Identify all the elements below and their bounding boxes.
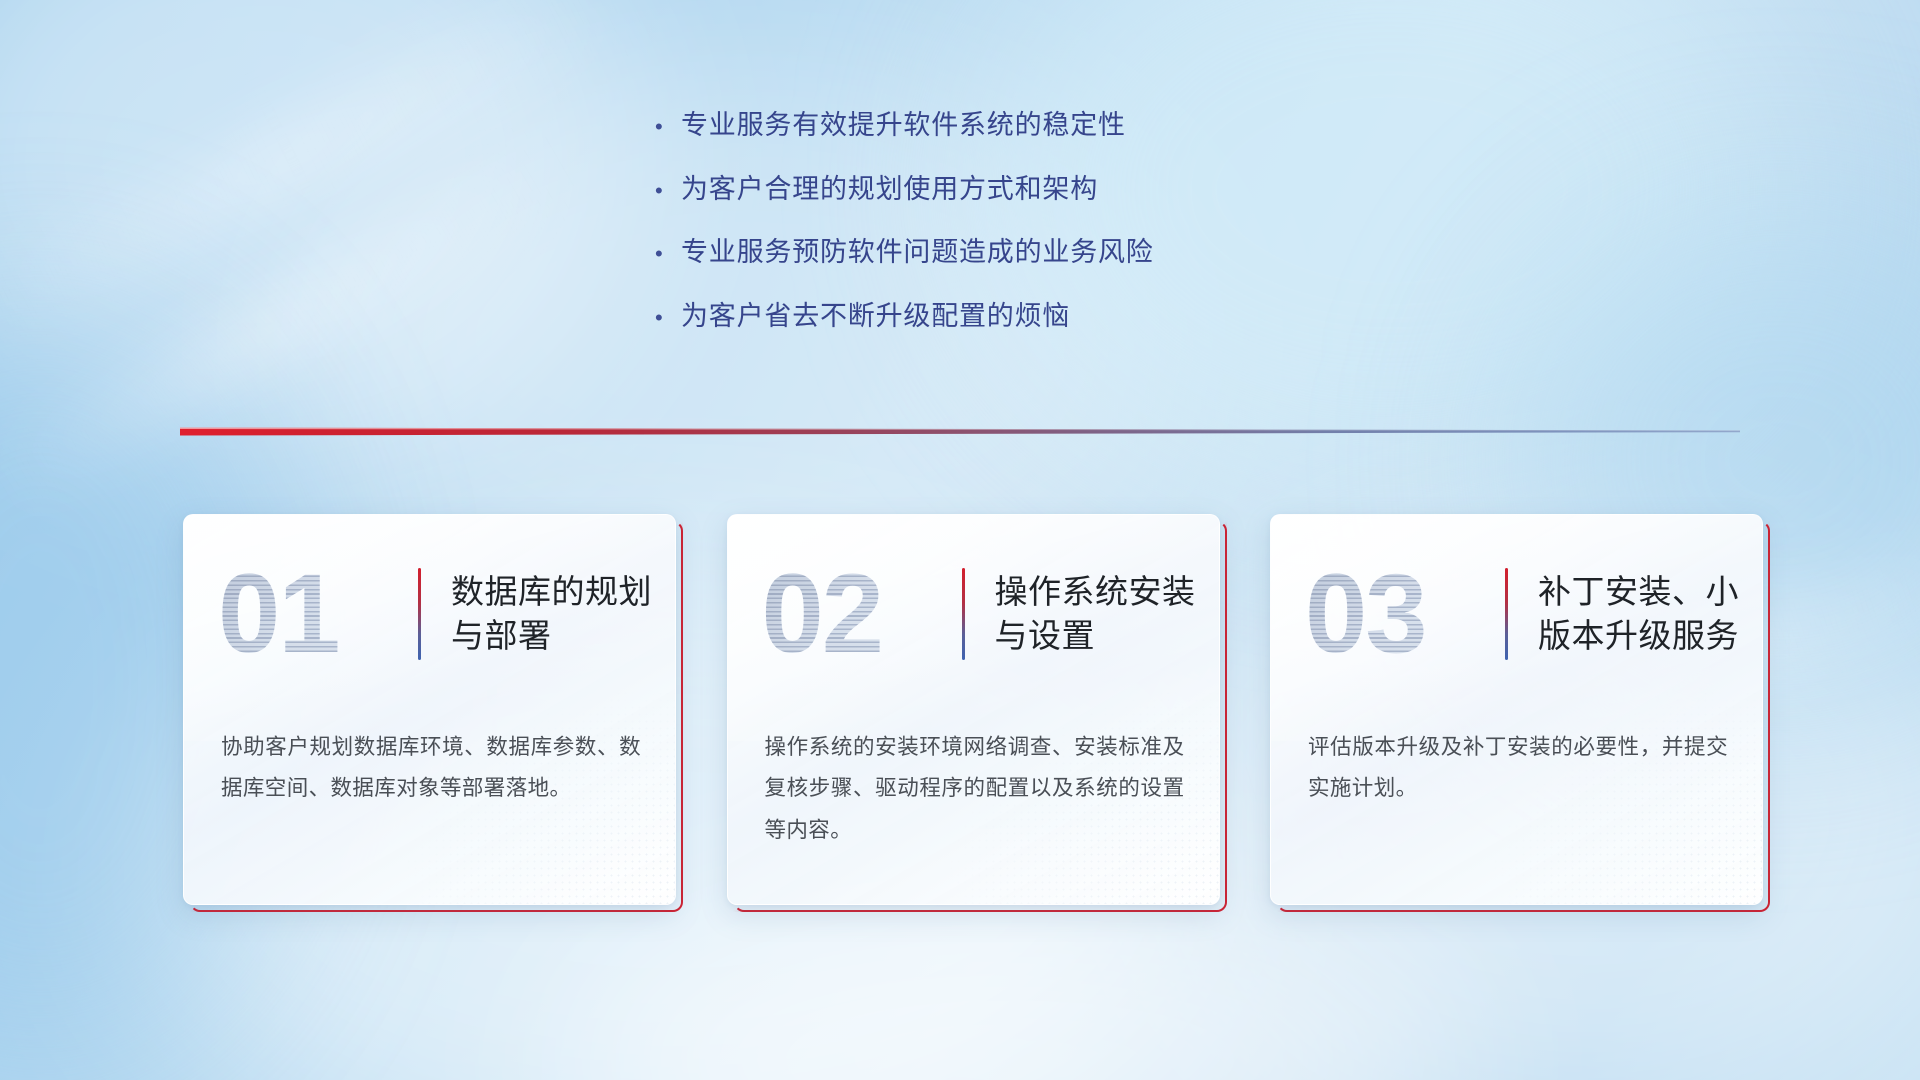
card-number: 03	[1305, 558, 1505, 670]
card-title-accent-bar	[1505, 568, 1508, 660]
card-title: 操作系统安装 与设置	[995, 570, 1196, 657]
service-card[interactable]: 03 补丁安装、小 版本升级服务 评估版本升级及补丁安装的必要性，并提交实施计划…	[1270, 514, 1763, 905]
service-card-row: 01 数据库的规划 与部署 协助客户规划数据库环境、数据库参数、数据库空间、数据…	[183, 514, 1763, 905]
bullet-label: 为客户合理的规划使用方式和架构	[681, 172, 1098, 207]
card-surface: 02 操作系统安装 与设置 操作系统的安装环境网络调查、安装标准及复核步骤、驱动…	[727, 514, 1220, 905]
card-number: 02	[762, 558, 962, 670]
list-item: • 为客户合理的规划使用方式和架构	[655, 172, 1415, 207]
card-surface: 03 补丁安装、小 版本升级服务 评估版本升级及补丁安装的必要性，并提交实施计划…	[1270, 514, 1763, 905]
card-header: 02 操作系统安装 与设置	[728, 539, 1219, 689]
card-title-accent-bar	[962, 568, 965, 660]
bullet-label: 专业服务预防软件问题造成的业务风险	[681, 235, 1154, 270]
card-description: 操作系统的安装环境网络调查、安装标准及复核步骤、驱动程序的配置以及系统的设置等内…	[765, 727, 1185, 851]
card-header: 03 补丁安装、小 版本升级服务	[1271, 539, 1762, 689]
bullet-dot-icon: •	[655, 307, 681, 329]
bullet-dot-icon: •	[655, 180, 681, 202]
service-card[interactable]: 01 数据库的规划 与部署 协助客户规划数据库环境、数据库参数、数据库空间、数据…	[183, 514, 676, 905]
benefits-bullet-list: • 专业服务有效提升软件系统的稳定性 • 为客户合理的规划使用方式和架构 • 专…	[655, 108, 1415, 362]
divider-wedge-icon	[180, 418, 1740, 440]
background-glow-8	[560, 880, 1460, 1080]
bullet-dot-icon: •	[655, 243, 681, 265]
card-number: 01	[218, 558, 418, 670]
bullet-dot-icon: •	[655, 116, 681, 138]
bullet-label: 专业服务有效提升软件系统的稳定性	[681, 108, 1126, 143]
slide-canvas: • 专业服务有效提升软件系统的稳定性 • 为客户合理的规划使用方式和架构 • 专…	[0, 0, 1920, 1080]
card-title: 补丁安装、小 版本升级服务	[1538, 570, 1739, 657]
card-title-accent-bar	[418, 568, 421, 660]
card-description: 协助客户规划数据库环境、数据库参数、数据库空间、数据库对象等部署落地。	[221, 727, 641, 810]
card-title: 数据库的规划 与部署	[451, 570, 652, 657]
card-header: 01 数据库的规划 与部署	[184, 539, 675, 689]
list-item: • 为客户省去不断升级配置的烦恼	[655, 299, 1415, 334]
card-surface: 01 数据库的规划 与部署 协助客户规划数据库环境、数据库参数、数据库空间、数据…	[183, 514, 676, 905]
background-streak-2	[0, 149, 553, 509]
background-glow-1	[0, 0, 640, 480]
bullet-label: 为客户省去不断升级配置的烦恼	[681, 299, 1070, 334]
service-card[interactable]: 02 操作系统安装 与设置 操作系统的安装环境网络调查、安装标准及复核步骤、驱动…	[727, 514, 1220, 905]
card-description: 评估版本升级及补丁安装的必要性，并提交实施计划。	[1308, 727, 1728, 810]
list-item: • 专业服务预防软件问题造成的业务风险	[655, 235, 1415, 270]
background-streak-1	[0, 0, 620, 340]
section-divider	[180, 418, 1740, 440]
list-item: • 专业服务有效提升软件系统的稳定性	[655, 108, 1415, 143]
